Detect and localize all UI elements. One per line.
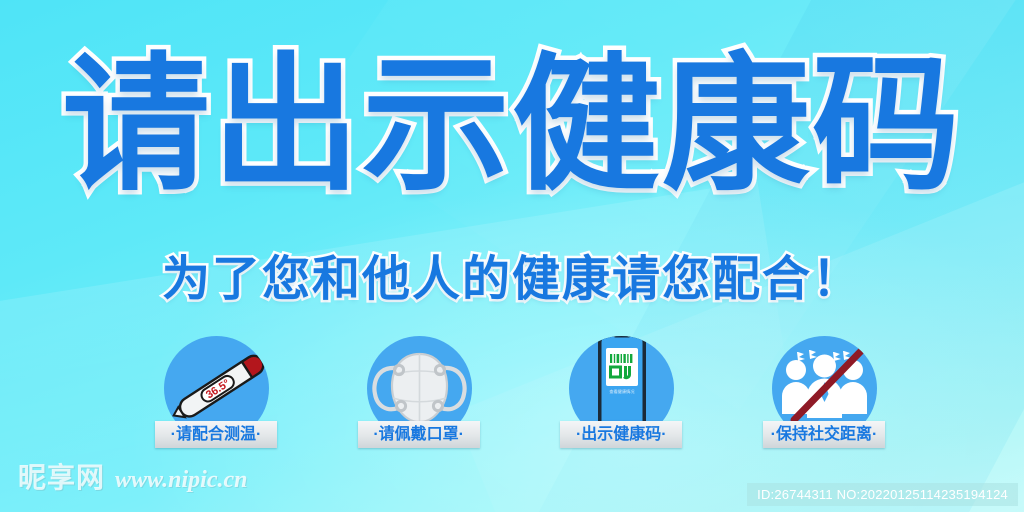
watermark-site-url: www.nipic.cn <box>115 467 247 494</box>
asset-id-badge: ID:26744311 NO:20220125114235194124 <box>747 483 1018 506</box>
instruction-label-text: ·保持社交距离· <box>771 427 878 443</box>
instruction-label-thermometer: ·请配合测温· <box>155 421 277 448</box>
instruction-label-health-code: ·出示健康码· <box>560 421 682 448</box>
instruction-label-text: ·请配合测温· <box>171 427 262 443</box>
instruction-label-mask: ·请佩戴口罩· <box>358 421 480 448</box>
instruction-item-health-code[interactable]: 查看健康情况 ·出示健康码· <box>560 334 682 452</box>
instruction-label-text: ·出示健康码· <box>576 427 667 443</box>
instruction-item-thermometer[interactable]: 36.5° ·请配合测温· <box>155 334 277 452</box>
instruction-icon-row: 36.5° ·请配合测温· <box>155 334 885 452</box>
phone-screen-caption: 查看健康情况 <box>610 388 636 395</box>
watermark: 昵享网 www.nipic.cn <box>18 456 247 496</box>
instruction-label-distance: ·保持社交距离· <box>763 421 885 448</box>
instruction-item-distance[interactable]: ·保持社交距离· <box>763 334 885 452</box>
watermark-site-name: 昵享网 <box>18 456 105 496</box>
page-title: 请出示健康码 <box>0 52 1024 200</box>
page-subtitle: 为了您和他人的健康请您配合！ <box>0 256 1024 304</box>
instruction-label-text: ·请佩戴口罩· <box>373 427 464 443</box>
instruction-item-mask[interactable]: ·请佩戴口罩· <box>358 334 480 452</box>
poster-canvas: 请出示健康码 为了您和他人的健康请您配合！ 36.5° ·请配合测温· <box>0 0 1024 512</box>
